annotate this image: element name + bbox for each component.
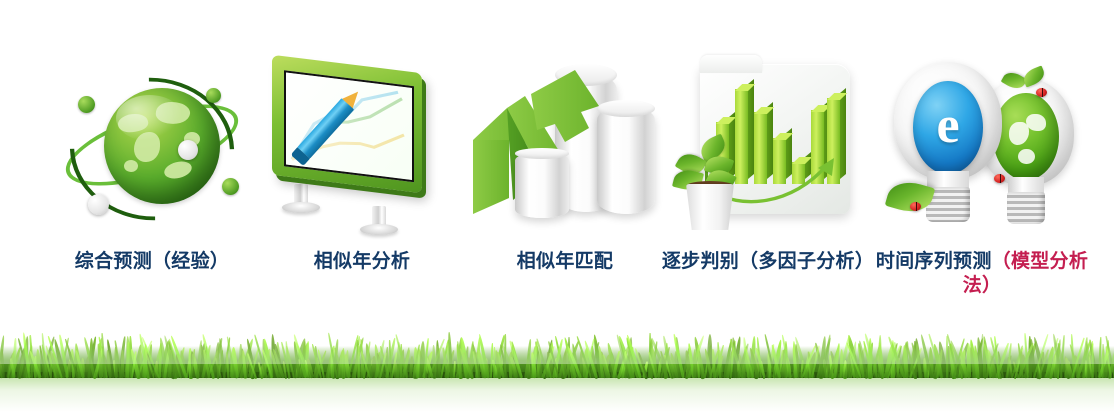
orbit-node-icon (206, 88, 221, 103)
method-caption: 综合预测（经验） (42, 250, 262, 274)
method-caption: 相似年匹配 (455, 250, 675, 274)
sprout-icon (1007, 69, 1053, 101)
cylinder-icon (515, 152, 569, 218)
orbit-node-icon (78, 96, 95, 113)
orbit-ring-inner-icon (36, 48, 268, 250)
globe-icon (993, 93, 1058, 181)
grass-strip-icon (0, 328, 1114, 412)
method-caption: 逐步判别（多因子分析） (658, 250, 878, 274)
green-arrow-cylinders-icon (455, 52, 675, 242)
logo-text: e (936, 100, 959, 152)
grass-reflection (0, 378, 1114, 412)
folder-bar-chart-plant-icon (658, 52, 878, 242)
monitor-foot-icon (360, 224, 398, 235)
monitor-icon (272, 55, 422, 193)
orbit-node-icon (222, 178, 239, 195)
eco-lightbulbs-icon: e (872, 52, 1092, 242)
poster-canvas: 综合预测（经验） (0, 0, 1114, 412)
potted-plant-icon (672, 136, 748, 232)
bulb-screw-base-icon (1007, 192, 1045, 224)
monitor-foot-icon (282, 202, 320, 213)
method-caption-primary: 时间序列预测 (876, 251, 992, 272)
method-icon-row: 综合预测（经验） (0, 0, 1114, 330)
grass-blades (0, 332, 1114, 378)
orbit-node-icon (88, 194, 109, 215)
method-item-similar-year-analysis[interactable]: 相似年分析 (252, 0, 472, 330)
ladybug-icon (910, 202, 921, 211)
orbit-node-icon (178, 140, 198, 160)
monitor-line-chart-pencil-icon (252, 52, 472, 242)
method-item-stepwise-discrimination[interactable]: 逐步判别（多因子分析） (658, 0, 878, 330)
method-item-time-series-forecast[interactable]: e 时间序列预测（模型分析法） (872, 0, 1092, 330)
leaf-icon (1021, 66, 1047, 88)
green-globe-orbit-icon (42, 52, 262, 242)
method-item-comprehensive-forecast[interactable]: 综合预测（经验） (42, 0, 262, 330)
ladybug-icon (1036, 88, 1047, 97)
letter-e-logo-icon: e (913, 81, 982, 174)
method-caption: 相似年分析 (252, 250, 472, 274)
method-caption: 时间序列预测（模型分析法） (872, 250, 1092, 299)
method-item-similar-year-matching[interactable]: 相似年匹配 (455, 0, 675, 330)
